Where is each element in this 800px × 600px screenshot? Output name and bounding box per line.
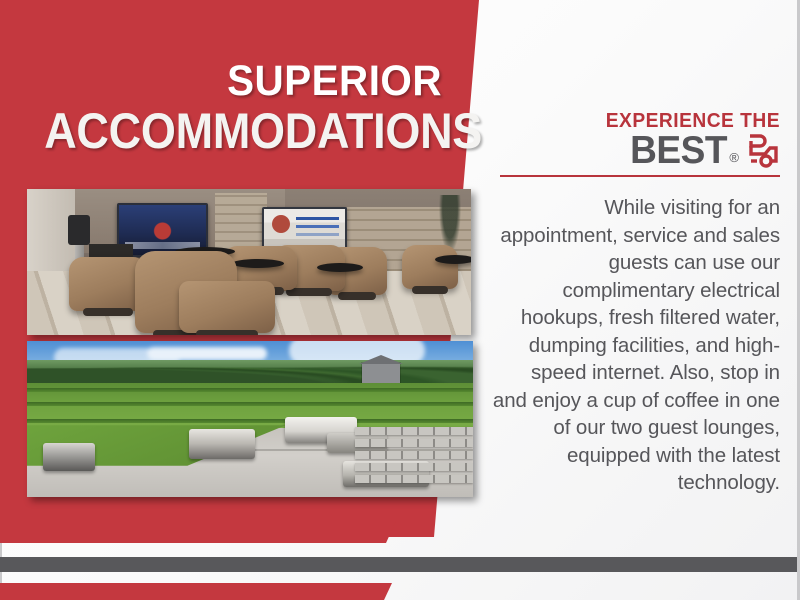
guest-lounge-photo: [27, 189, 471, 335]
page-title: SUPERIOR ACCOMMODATIONS: [0, 58, 460, 158]
side-table: [435, 255, 471, 264]
parked-rv-row: [355, 463, 473, 471]
rv-parking-lot-photo: [27, 341, 473, 497]
bottom-red-bar-lower: [0, 583, 400, 600]
lounge-chair: [179, 281, 275, 333]
parked-rv-row: [355, 427, 473, 435]
grass-terrace-edge: [27, 402, 473, 406]
motorhome: [189, 429, 255, 459]
parked-rv-row: [355, 475, 473, 483]
content-column: EXPERIENCE THE BEST ® While visiting for…: [492, 110, 784, 497]
grass-terrace-edge: [27, 388, 473, 392]
poster-canvas: SUPERIOR ACCOMMODATIONS: [0, 0, 800, 600]
experience-the-best-logo: EXPERIENCE THE BEST ®: [492, 110, 784, 177]
parked-rv-row: [355, 439, 473, 447]
cloud: [147, 347, 267, 360]
bottom-red-bar-upper: [0, 521, 400, 543]
rv-motorhome-icon: [746, 133, 780, 169]
body-paragraph: While visiting for an appointment, servi…: [492, 194, 784, 497]
lounge-chair: [402, 245, 458, 289]
headline-line-2: ACCOMMODATIONS: [44, 104, 442, 158]
logo-wordmark: BEST ®: [492, 132, 780, 170]
building-in-distance: [362, 363, 400, 385]
logo-divider-rule: [500, 175, 780, 177]
motorhome: [43, 443, 95, 471]
side-table: [317, 263, 363, 272]
registered-trademark-icon: ®: [729, 146, 739, 170]
side-table: [232, 259, 284, 268]
bottom-gray-bar: [0, 557, 800, 572]
grass-terrace-edge: [27, 419, 473, 423]
logo-best-text: BEST: [630, 132, 727, 170]
headline-line-1: SUPERIOR: [27, 58, 442, 104]
parked-rv-row: [355, 451, 473, 459]
